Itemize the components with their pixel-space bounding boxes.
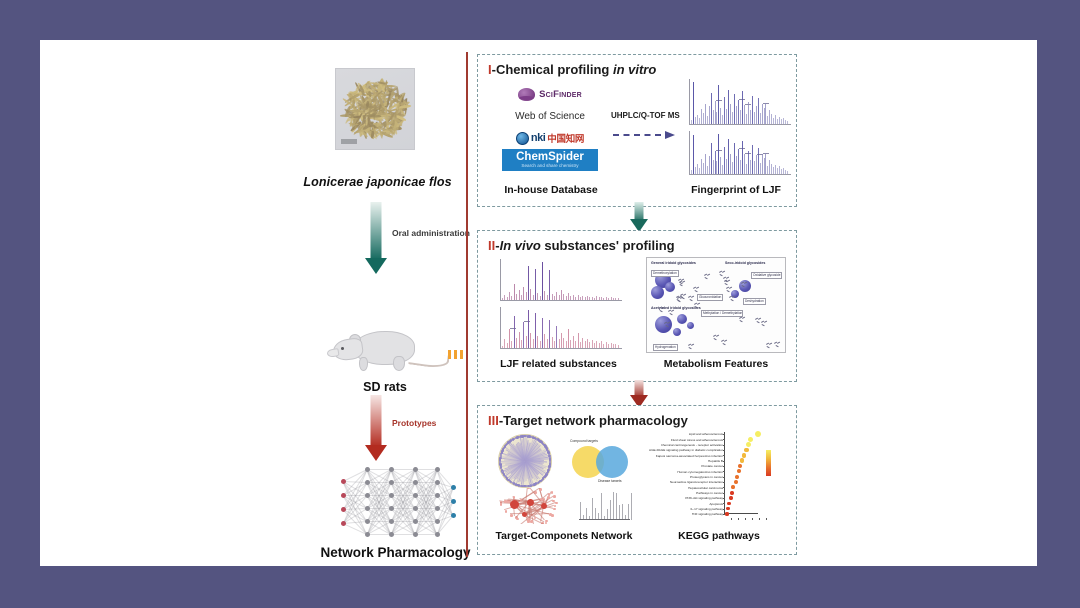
panel-1-caption-right: Fingerprint of LJF: [676, 184, 796, 196]
panel-3-title: III-Target network pharmacology: [488, 413, 688, 428]
panel-2-title-text: substances' profiling: [541, 238, 675, 253]
kegg-pathway-label: Fluid shear stress and atherosclerosis: [671, 438, 723, 442]
dried-flower-buds-photo: [335, 68, 415, 150]
kegg-data-point: [748, 437, 753, 442]
animal-label: SD rats: [325, 380, 445, 394]
panel-in-vivo-profiling: II-In vivo substances' profiling LJF rel…: [477, 230, 797, 382]
web-of-science-logo[interactable]: Web of Science: [500, 105, 600, 127]
prototypes-label: Prototypes: [392, 418, 436, 428]
kegg-pathway-label: Pathways in cancer: [696, 491, 723, 495]
venn-diagram-subplot: Compound targetsDisease targets: [568, 438, 634, 482]
network-pharmacology-graphic: [335, 465, 457, 537]
kegg-pathway-label: Hepatitis B: [708, 459, 723, 463]
chemspider-logo[interactable]: ChemSpider Search and share chemistry: [500, 149, 600, 171]
kegg-data-point: [729, 496, 733, 500]
kegg-pathway-label: Chemical carcinogenesis - receptor activ…: [661, 443, 723, 447]
panel-2-caption-left: LJF related substances: [486, 358, 631, 370]
panel-3-caption-right: KEGG pathways: [646, 530, 792, 542]
rat-eye: [341, 347, 344, 350]
kegg-data-point: [742, 453, 747, 458]
kegg-data-point: [727, 502, 730, 505]
kegg-data-point: [740, 458, 745, 463]
kegg-data-point: [744, 448, 749, 453]
vertical-divider: [466, 52, 468, 557]
kegg-data-point: [755, 431, 761, 437]
chemspider-tagline: Search and share chemistry: [521, 163, 578, 169]
panel-2-to-3-arrow: [630, 380, 648, 408]
web-of-science-label: Web of Science: [515, 111, 585, 122]
sd-rat-illustration: [325, 325, 445, 381]
database-logo-stack: SciFinder Web of Science nki 中国知网 ChemSp…: [500, 83, 600, 171]
kegg-pathway-label: PI3K-Akt signaling pathway: [685, 496, 723, 500]
uhplc-arrow-icon: [613, 131, 675, 139]
chemspider-label: ChemSpider: [516, 152, 584, 163]
photo-scale-bar: [341, 139, 357, 144]
rat-hind-leg: [393, 356, 405, 371]
kegg-data-point: [725, 512, 728, 515]
prototypes-arrow: [365, 395, 387, 461]
kegg-color-legend-bar: [766, 450, 771, 476]
kegg-pathway-label: Lipid and atherosclerosis: [689, 432, 723, 436]
kegg-data-point: [731, 485, 735, 489]
figure-card: Lonicerae japonicae flos Oral administra…: [40, 40, 1037, 566]
fingerprint-chromatogram-top: [683, 77, 793, 129]
kegg-data-point: [737, 469, 741, 473]
hub-network-subplot: [496, 488, 572, 524]
kegg-data-point: [738, 464, 742, 468]
panel-1-title: I-Chemical profiling in vitro: [488, 62, 656, 77]
circular-network-subplot: [498, 434, 552, 488]
globe-icon: [516, 132, 529, 145]
kegg-pathway-label: Kaposi sarcoma-associated herpesvirus in…: [656, 454, 723, 458]
kegg-data-point: [734, 480, 738, 484]
kegg-pathway-label: Human cytomegalovirus infection: [677, 470, 723, 474]
kegg-pathway-label: Proteoglycans in cancer: [690, 475, 723, 479]
panel-1-caption-left: In-house Database: [488, 184, 614, 196]
network-pharmacology-label: Network Pharmacology: [288, 545, 503, 560]
left-workflow-column: Lonicerae japonicae flos Oral administra…: [40, 40, 460, 566]
panel-2-caption-right: Metabolism Features: [646, 358, 786, 370]
kegg-pathway-label: Prostate cancer: [701, 464, 723, 468]
oral-administration-label: Oral administration: [392, 228, 470, 238]
kegg-pathway-label: Neuroactive ligand-receptor interaction: [670, 480, 723, 484]
scifinder-label: SciFinder: [539, 89, 582, 100]
target-components-network-graphic: Compound targetsDisease targets: [492, 432, 637, 524]
kegg-data-point: [746, 442, 751, 447]
scifinder-logo[interactable]: SciFinder: [500, 83, 600, 105]
kegg-data-point: [726, 507, 729, 510]
kegg-pathway-label: Apoptosis: [709, 502, 723, 506]
panel-1-to-2-arrow: [630, 202, 648, 232]
ljf-substances-chromatogram-bottom: [494, 305, 624, 353]
oral-administration-arrow: [365, 202, 387, 274]
kegg-pathway-label: TNF signaling pathway: [692, 512, 723, 516]
panel-1-title-italic: in vitro: [613, 62, 656, 77]
metabolism-features-diagram: General iridoid glycosidesDemethoxylatio…: [646, 257, 786, 353]
kegg-pathway-label: AGE-RAGE signaling pathway in diabetic c…: [649, 448, 723, 452]
cnki-label: nki: [531, 132, 545, 144]
kegg-data-point: [735, 475, 739, 479]
kegg-data-point: [730, 491, 734, 495]
panel-2-title: II-In vivo substances' profiling: [488, 238, 675, 253]
panel-2-title-italic: In vivo: [500, 238, 541, 253]
ljf-substances-chromatogram-top: [494, 257, 624, 305]
panel-3-caption-left: Target-Componets Network: [484, 530, 644, 542]
bar-chart-subplot: [576, 488, 634, 524]
kegg-pathway-dotplot: Lipid and atherosclerosisFluid shear str…: [646, 430, 792, 526]
species-label: Lonicerae japonicae flos: [290, 175, 465, 189]
kegg-pathway-label: Hepatocellular carcinoma: [688, 486, 723, 490]
scifinder-glyph-icon: [518, 88, 535, 101]
cnki-logo[interactable]: nki 中国知网: [500, 127, 600, 149]
panel-target-network-pharmacology: III-Target network pharmacology Compound…: [477, 405, 797, 555]
rat-front-leg: [359, 357, 368, 371]
kegg-pathway-label: IL-17 signaling pathway: [690, 507, 723, 511]
fingerprint-chromatogram-bottom: [683, 129, 793, 179]
panel-chemical-profiling: I-Chemical profiling in vitro SciFinder …: [477, 54, 797, 207]
rat-tail: [408, 350, 450, 369]
uhplc-method-label: UHPLC/Q-TOF MS: [611, 111, 680, 120]
cnki-cjk-label: 中国知网: [547, 131, 584, 145]
panel-3-title-text: -Target network pharmacology: [499, 413, 688, 428]
panel-3-numeral: III: [488, 413, 499, 428]
panel-1-title-text: -Chemical profiling: [492, 62, 613, 77]
